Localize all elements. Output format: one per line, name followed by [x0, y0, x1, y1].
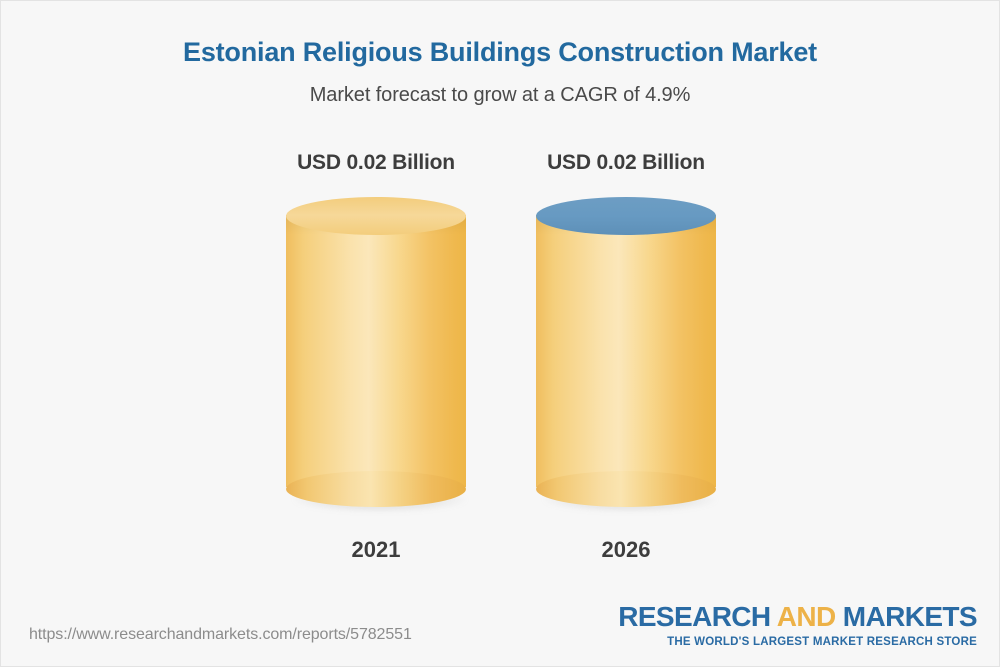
logo-word-research: RESEARCH	[618, 601, 776, 632]
logo-word-markets: MARKETS	[836, 601, 977, 632]
cylinder-body-2026	[536, 215, 716, 487]
value-label-2026: USD 0.02 Billion	[496, 151, 756, 175]
chart-subtitle: Market forecast to grow at a CAGR of 4.9…	[1, 84, 999, 107]
chart-column-2021: USD 0.02 Billion 2021	[246, 151, 506, 507]
chart-column-2026: USD 0.02 Billion 2026	[496, 151, 756, 507]
cylinder-body-2021	[286, 215, 466, 487]
cylinder-top-ellipse-2026	[536, 197, 716, 235]
research-and-markets-logo: RESEARCH AND MARKETS THE WORLD'S LARGEST…	[618, 603, 977, 648]
cylinder-bottom-cap-2021	[286, 471, 466, 507]
chart-plot-area: USD 0.02 Billion 2021 USD 0.02 Billion 2…	[1, 151, 999, 571]
chart-title: Estonian Religious Buildings Constructio…	[1, 37, 999, 68]
report-url[interactable]: https://www.researchandmarkets.com/repor…	[29, 626, 412, 644]
cylinder-top-ellipse-2021	[286, 197, 466, 235]
infographic-canvas: Estonian Religious Buildings Constructio…	[0, 0, 1000, 667]
cylinder-bar-2021: 2021	[286, 197, 466, 507]
cylinder-bar-2026: 2026	[536, 197, 716, 507]
logo-word-and: AND	[777, 601, 836, 632]
cylinder-bottom-cap-2026	[536, 471, 716, 507]
value-label-2021: USD 0.02 Billion	[246, 151, 506, 175]
chart-header: Estonian Religious Buildings Constructio…	[1, 37, 999, 107]
logo-wordmark: RESEARCH AND MARKETS	[618, 603, 977, 631]
category-label-2026: 2026	[536, 537, 716, 563]
category-label-2021: 2021	[286, 537, 466, 563]
logo-tagline: THE WORLD'S LARGEST MARKET RESEARCH STOR…	[618, 636, 977, 648]
